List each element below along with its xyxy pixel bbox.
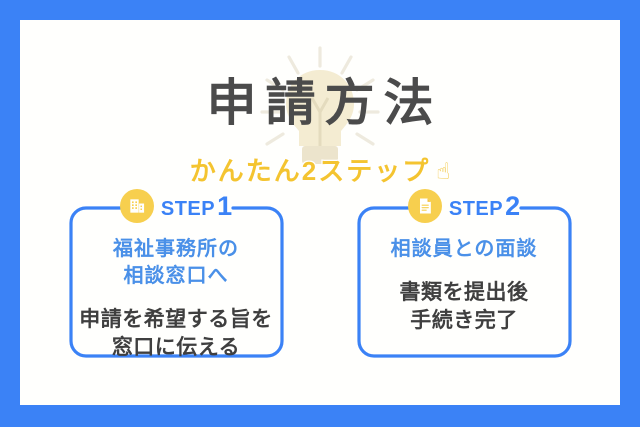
step-2-body: 相談員との面談 書類を提出後 手続き完了 <box>353 236 576 335</box>
office-building-icon <box>120 189 154 223</box>
step-card-2: STEP 2 相談員との面談 書類を提出後 手続き完了 <box>343 192 586 372</box>
subtitle-text: かんたん2ステップ <box>190 154 430 188</box>
step-2-heading: 相談員との面談 <box>353 236 576 263</box>
step-1-label: STEP 1 <box>161 191 232 222</box>
step-2-header: STEP 2 <box>343 186 586 226</box>
step-2-word: STEP <box>449 198 503 221</box>
poster-canvas: 申請方法 かんたん2ステップ ☝ <box>20 20 620 405</box>
step-1-detail: 申請を希望する旨を 窓口に伝える <box>65 306 288 362</box>
pointing-up-icon: ☝ <box>436 156 450 186</box>
document-icon <box>408 189 442 223</box>
step-2-label: STEP 2 <box>449 191 520 222</box>
step-1-heading: 福祉事務所の 相談窓口へ <box>65 236 288 290</box>
page-title: 申請方法 <box>20 74 620 132</box>
step-1-body: 福祉事務所の 相談窓口へ 申請を希望する旨を 窓口に伝える <box>65 236 288 362</box>
title-area: 申請方法 かんたん2ステップ ☝ <box>20 32 620 162</box>
poster-frame: 申請方法 かんたん2ステップ ☝ <box>0 0 640 427</box>
steps-container: STEP 1 福祉事務所の 相談窓口へ 申請を希望する旨を 窓口に伝える <box>20 192 620 392</box>
step-2-number: 2 <box>505 191 520 222</box>
step-card-1: STEP 1 福祉事務所の 相談窓口へ 申請を希望する旨を 窓口に伝える <box>55 192 298 372</box>
step-1-number: 1 <box>217 191 232 222</box>
step-1-header: STEP 1 <box>55 186 298 226</box>
step-1-word: STEP <box>161 198 215 221</box>
subtitle-row: かんたん2ステップ ☝ <box>20 154 620 188</box>
step-2-detail: 書類を提出後 手続き完了 <box>353 279 576 335</box>
